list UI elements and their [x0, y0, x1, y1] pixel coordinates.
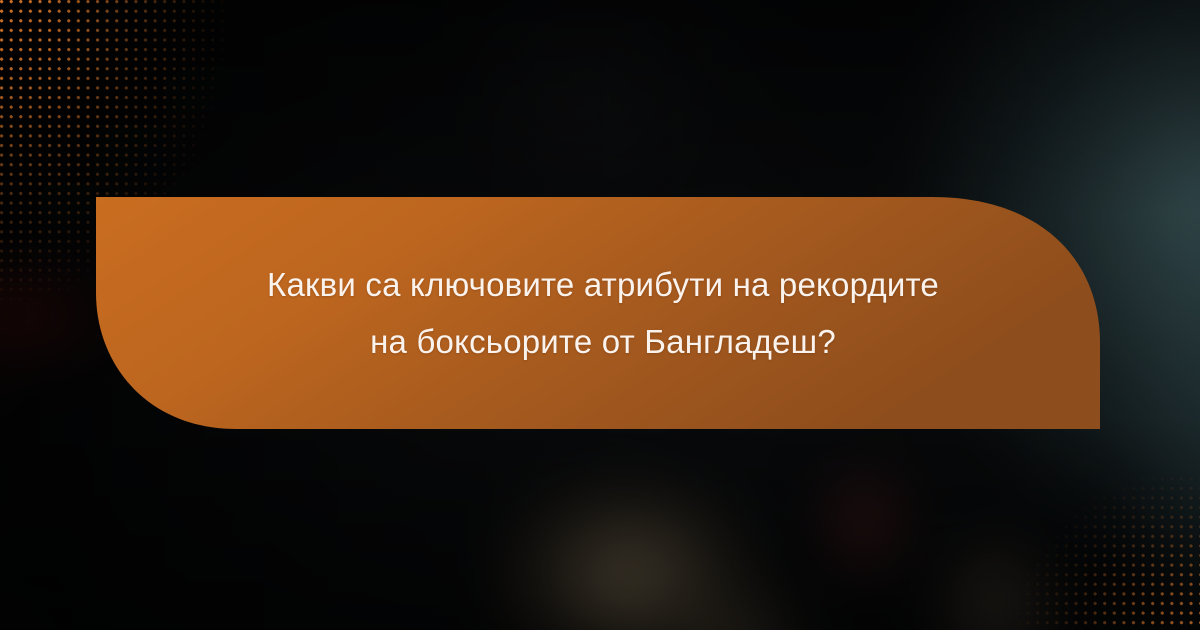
question-banner: Какви са ключовите атрибути на рекордите… — [96, 197, 1100, 429]
question-line-1: Какви са ключовите атрибути на рекордите — [267, 256, 939, 313]
question-text: Какви са ключовите атрибути на рекордите… — [96, 197, 1100, 429]
share-card: Какви са ключовите атрибути на рекордите… — [0, 0, 1200, 630]
question-line-2: на боксьорите от Бангладеш? — [370, 313, 836, 370]
